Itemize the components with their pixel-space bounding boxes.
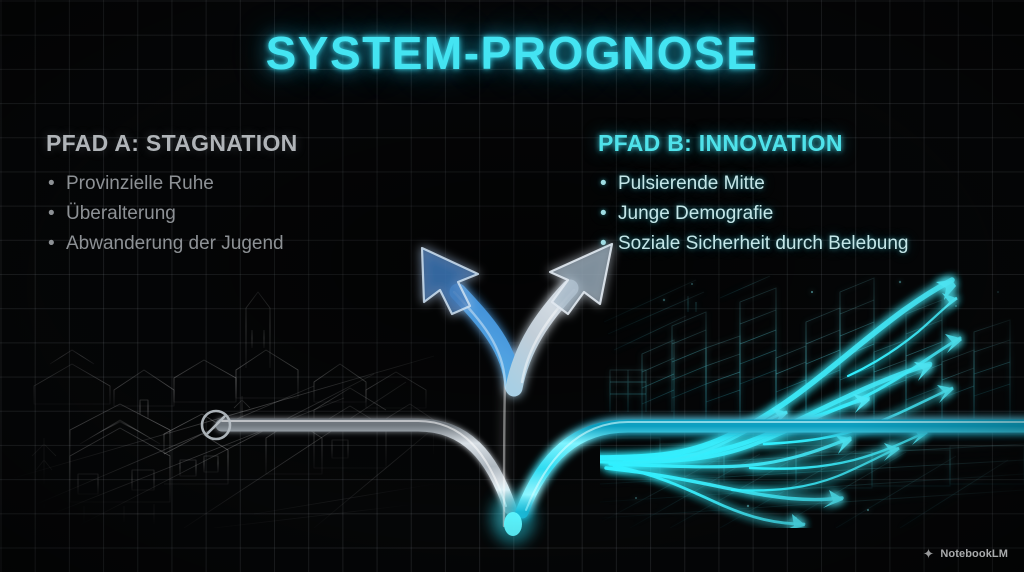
- path-b-heading: PFAD B: INNOVATION: [598, 130, 1008, 157]
- infographic-canvas: SYSTEM-PROGNOSE PFAD A: STAGNATION Provi…: [0, 0, 1024, 572]
- background-grid: [0, 0, 1024, 572]
- list-item: Junge Demografie: [598, 199, 1008, 229]
- list-item: Pulsierende Mitte: [598, 169, 1008, 199]
- path-a-column: PFAD A: STAGNATION Provinzielle Ruhe Übe…: [46, 130, 466, 259]
- page-title: SYSTEM-PROGNOSE: [0, 26, 1024, 80]
- path-a-bullet-list: Provinzielle Ruhe Überalterung Abwanderu…: [46, 169, 466, 259]
- list-item: Abwanderung der Jugend: [46, 229, 466, 259]
- watermark: NotebookLM: [922, 547, 1008, 560]
- notebooklm-icon: [922, 547, 935, 560]
- list-item: Soziale Sicherheit durch Belebung: [598, 229, 1008, 259]
- path-b-bullet-list: Pulsierende Mitte Junge Demografie Sozia…: [598, 169, 1008, 259]
- watermark-label: NotebookLM: [940, 548, 1008, 560]
- path-b-column: PFAD B: INNOVATION Pulsierende Mitte Jun…: [598, 130, 1008, 259]
- list-item: Provinzielle Ruhe: [46, 169, 466, 199]
- path-a-heading: PFAD A: STAGNATION: [46, 130, 466, 157]
- list-item: Überalterung: [46, 199, 466, 229]
